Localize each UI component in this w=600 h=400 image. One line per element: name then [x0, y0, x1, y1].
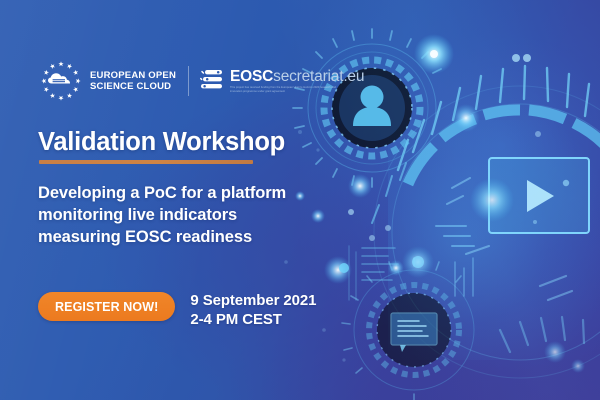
event-subtitle: Developing a PoC for a platform monitori…	[38, 182, 356, 248]
page-title: Validation Workshop	[38, 128, 285, 157]
eosc-secretariat-bars-icon	[200, 68, 224, 94]
eosc-logo[interactable]: EUROPEAN OPEN SCIENCE CLOUD	[38, 59, 176, 103]
eosc-secretariat-disclaimer: This project has received funding from t…	[230, 86, 340, 93]
event-date: 9 September 2021	[190, 291, 316, 310]
eosc-secretariat-wordmark: EOSCsecretariat.eu	[230, 69, 364, 85]
eosc-wordmark-line2: SCIENCE CLOUD	[90, 81, 176, 93]
event-banner: EUROPEAN OPEN SCIENCE CLOUD	[0, 0, 600, 400]
eosc-wordmark: EUROPEAN OPEN SCIENCE CLOUD	[90, 70, 176, 93]
logo-row: EUROPEAN OPEN SCIENCE CLOUD	[38, 58, 364, 104]
event-time: 2-4 PM CEST	[190, 310, 316, 329]
cta-row: REGISTER NOW! 9 September 2021 2-4 PM CE…	[38, 292, 316, 329]
eosc-wordmark-line1: EUROPEAN OPEN	[90, 70, 176, 82]
event-subtitle-line2: monitoring live indicators	[38, 204, 356, 226]
logo-divider	[188, 66, 189, 96]
secretariat-light: secretariat.eu	[273, 68, 364, 85]
event-datetime: 9 September 2021 2-4 PM CEST	[190, 291, 316, 329]
register-now-button[interactable]: REGISTER NOW!	[38, 292, 175, 321]
eosc-secretariat-text: EOSCsecretariat.eu This project has rece…	[230, 69, 364, 93]
event-subtitle-line1: Developing a PoC for a platform	[38, 182, 356, 204]
event-subtitle-line3: measuring EOSC readiness	[38, 226, 356, 248]
eu-stars-cloud-icon	[38, 59, 84, 103]
title-underline	[39, 160, 253, 164]
secretariat-bold: EOSC	[230, 68, 273, 85]
eosc-secretariat-logo[interactable]: EOSCsecretariat.eu This project has rece…	[200, 68, 364, 94]
banner-content: EUROPEAN OPEN SCIENCE CLOUD	[38, 0, 368, 400]
